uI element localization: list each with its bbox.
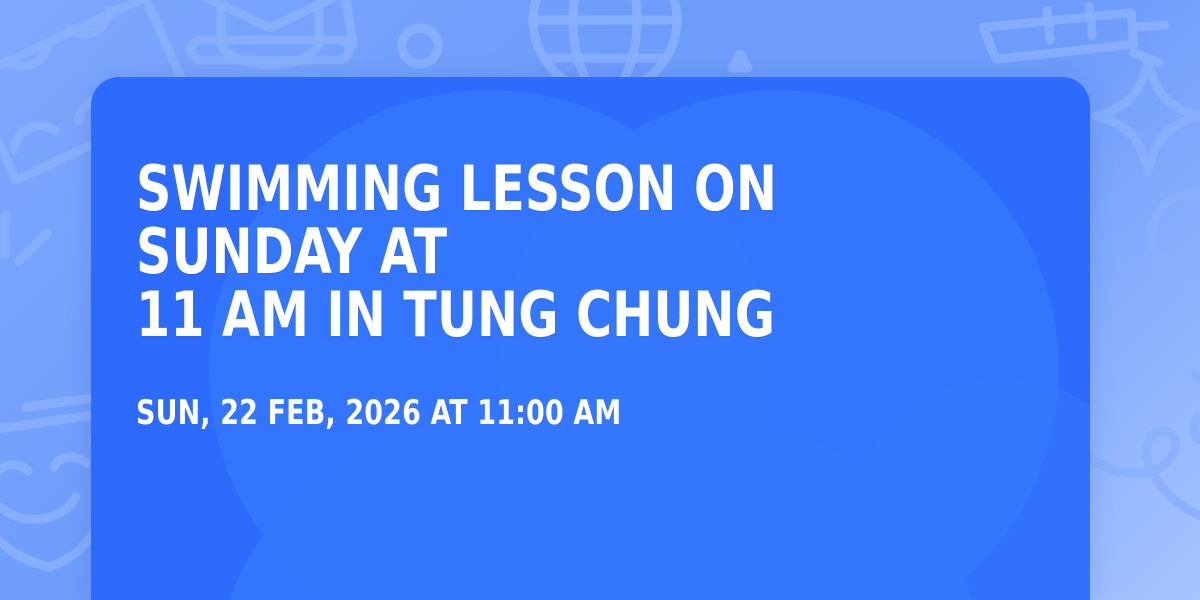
- ring-icon: [402, 28, 438, 64]
- event-title: Swimming Lesson on Sunday at 11 am in Tu…: [136, 77, 940, 347]
- event-card: Swimming Lesson on Sunday at 11 am in Tu…: [91, 77, 1090, 600]
- burst-icon: [0, 215, 47, 275]
- microphone-icon: [1135, 179, 1200, 358]
- sparkle-icon: [1096, 60, 1200, 172]
- event-poster: Swimming Lesson on Sunday at 11 am in Tu…: [0, 0, 1200, 600]
- balloon-icon: [700, 0, 780, 68]
- event-datetime: Sun, 22 Feb, 2026 at 11:00 AM: [136, 347, 940, 432]
- event-card-content: Swimming Lesson on Sunday at 11 am in Tu…: [136, 77, 1050, 432]
- graduation-cap-icon: [191, 0, 353, 65]
